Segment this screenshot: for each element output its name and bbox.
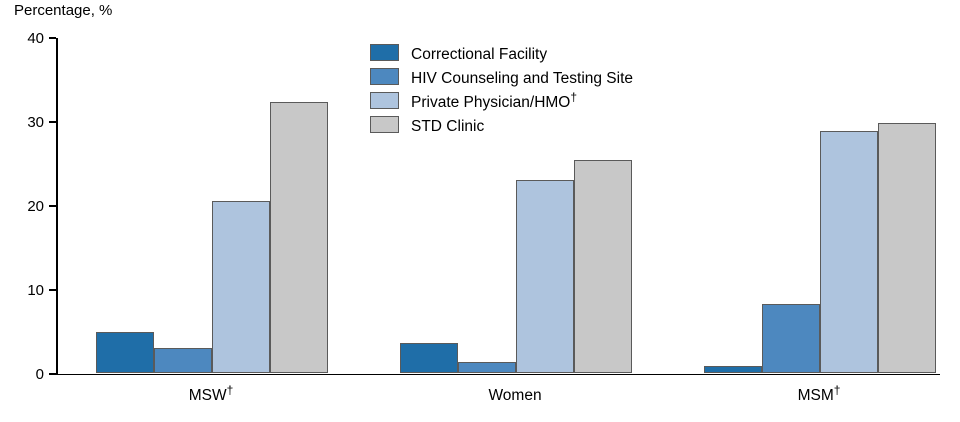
legend-swatch-hiv-counseling-site [370, 68, 399, 85]
legend-label-correctional-facility: Correctional Facility [411, 43, 547, 63]
legend: Correctional Facility HIV Counseling and… [370, 41, 633, 137]
x-group-label-women: Women [455, 383, 575, 405]
x-group-label-msm-text: MSM [798, 387, 834, 404]
bar-msm-private-physician [820, 131, 878, 373]
y-tick-label-30: 30 [8, 115, 44, 130]
legend-dagger-private-physician-hmo: † [570, 90, 577, 104]
legend-item-correctional-facility: Correctional Facility [370, 41, 633, 64]
bar-msm-correctional [704, 366, 762, 373]
bar-msw-correctional [96, 332, 154, 373]
x-group-label-women-text: Women [488, 387, 541, 404]
bar-msw-hiv-site [154, 348, 212, 373]
bar-msw-std-clinic [270, 102, 328, 373]
bar-women-private-physician [516, 180, 574, 373]
legend-swatch-std-clinic [370, 116, 399, 133]
y-tick-40 [49, 37, 56, 39]
x-group-label-msm: MSM† [759, 383, 879, 405]
y-tick-20 [49, 205, 56, 207]
y-tick-label-20: 20 [8, 199, 44, 214]
legend-label-private-physician-hmo: Private Physician/HMO† [411, 91, 577, 111]
bar-women-hiv-site [458, 362, 516, 373]
x-group-label-msw-dagger: † [227, 383, 234, 397]
y-tick-label-40: 40 [8, 31, 44, 46]
legend-label-hiv-counseling-site: HIV Counseling and Testing Site [411, 67, 633, 87]
y-tick-10 [49, 289, 56, 291]
legend-item-private-physician-hmo: Private Physician/HMO† [370, 89, 633, 112]
legend-label-std-clinic: STD Clinic [411, 115, 484, 135]
bar-msm-hiv-site [762, 304, 820, 373]
x-group-label-msm-dagger: † [834, 383, 841, 397]
bar-msw-private-physician [212, 201, 270, 373]
legend-item-std-clinic: STD Clinic [370, 113, 633, 136]
x-group-label-msw: MSW† [151, 383, 271, 405]
y-tick-label-10: 10 [8, 283, 44, 298]
y-tick-0 [49, 373, 56, 375]
bar-women-std-clinic [574, 160, 632, 373]
legend-swatch-correctional-facility [370, 44, 399, 61]
bar-women-correctional [400, 343, 458, 373]
y-tick-label-0: 0 [8, 367, 44, 382]
bar-msm-std-clinic [878, 123, 936, 373]
bar-chart: Percentage, % 40 30 20 10 0 [0, 0, 960, 422]
legend-item-hiv-counseling-site: HIV Counseling and Testing Site [370, 65, 633, 88]
legend-swatch-private-physician-hmo [370, 92, 399, 109]
x-group-label-msw-text: MSW [189, 387, 227, 404]
y-axis-title: Percentage, % [14, 2, 112, 19]
y-tick-30 [49, 121, 56, 123]
